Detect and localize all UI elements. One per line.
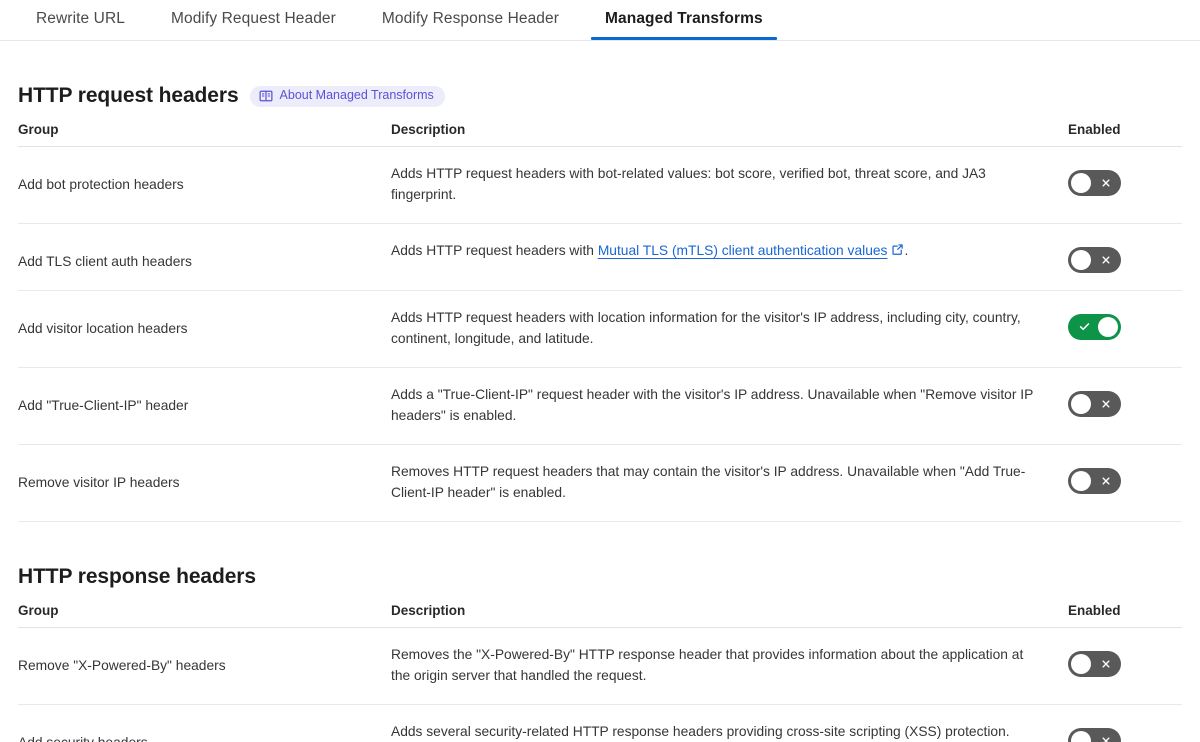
toggle-wrapper bbox=[1068, 385, 1182, 417]
cell-group: Add visitor location headers bbox=[18, 290, 391, 367]
description-text: Adds HTTP request headers with bot-relat… bbox=[391, 166, 986, 202]
column-header-description: Description bbox=[391, 122, 1068, 147]
section-header: HTTP request headersAbout Managed Transf… bbox=[18, 84, 1182, 108]
toggle-wrapper bbox=[1068, 241, 1182, 273]
cell-group: Add TLS client auth headers bbox=[18, 223, 391, 290]
cell-enabled bbox=[1068, 367, 1182, 444]
table-header: GroupDescriptionEnabled bbox=[18, 603, 1182, 628]
tab-managed-transforms[interactable]: Managed Transforms bbox=[591, 0, 777, 40]
toggle-wrapper bbox=[1068, 645, 1182, 677]
cell-enabled bbox=[1068, 444, 1182, 521]
about-managed-transforms-badge[interactable]: About Managed Transforms bbox=[250, 86, 445, 107]
description-text: Removes HTTP request headers that may co… bbox=[391, 464, 1025, 500]
toggle-knob bbox=[1071, 731, 1091, 742]
close-icon bbox=[1094, 391, 1118, 417]
close-icon bbox=[1094, 170, 1118, 196]
close-icon bbox=[1094, 728, 1118, 742]
table-row: Remove visitor IP headersRemoves HTTP re… bbox=[18, 444, 1182, 521]
table-row: Add "True-Client-IP" headerAdds a "True-… bbox=[18, 367, 1182, 444]
cell-description: Adds a "True-Client-IP" request header w… bbox=[391, 367, 1068, 444]
cell-enabled bbox=[1068, 627, 1182, 704]
column-header-description: Description bbox=[391, 603, 1068, 628]
group-name: Add visitor location headers bbox=[18, 308, 377, 340]
book-icon bbox=[259, 89, 273, 103]
table-body: Add bot protection headersAdds HTTP requ… bbox=[18, 147, 1182, 522]
table-header-row: GroupDescriptionEnabled bbox=[18, 603, 1182, 628]
description-text: Adds several security-related HTTP respo… bbox=[391, 724, 1010, 739]
column-header-group: Group bbox=[18, 603, 391, 628]
table-row: Add security headersAdds several securit… bbox=[18, 704, 1182, 742]
table-row: Remove "X-Powered-By" headersRemoves the… bbox=[18, 627, 1182, 704]
description-text: Adds HTTP request headers with location … bbox=[391, 310, 1021, 346]
cell-description: Removes HTTP request headers that may co… bbox=[391, 444, 1068, 521]
enabled-toggle[interactable] bbox=[1068, 314, 1121, 340]
toggle-knob bbox=[1071, 394, 1091, 414]
managed-transforms-table: GroupDescriptionEnabledAdd bot protectio… bbox=[18, 122, 1182, 522]
cell-group: Add bot protection headers bbox=[18, 147, 391, 224]
toggle-knob bbox=[1071, 654, 1091, 674]
tab-label: Managed Transforms bbox=[605, 10, 763, 27]
check-icon bbox=[1072, 314, 1096, 340]
section-response-headers: HTTP response headersGroupDescriptionEna… bbox=[0, 565, 1200, 742]
cell-enabled bbox=[1068, 704, 1182, 742]
enabled-toggle[interactable] bbox=[1068, 728, 1121, 742]
cell-enabled bbox=[1068, 290, 1182, 367]
table-row: Add TLS client auth headersAdds HTTP req… bbox=[18, 223, 1182, 290]
link-label: Mutual TLS (mTLS) client authentication … bbox=[598, 243, 888, 258]
group-name: Add security headers bbox=[18, 722, 377, 742]
cell-group: Remove visitor IP headers bbox=[18, 444, 391, 521]
cell-description: Adds HTTP request headers with Mutual TL… bbox=[391, 223, 1068, 290]
cell-description: Adds HTTP request headers with bot-relat… bbox=[391, 147, 1068, 224]
tab-label: Rewrite URL bbox=[36, 10, 125, 27]
enabled-toggle[interactable] bbox=[1068, 391, 1121, 417]
description-text-prefix: Adds HTTP request headers with bbox=[391, 243, 598, 258]
section-request-headers: HTTP request headersAbout Managed Transf… bbox=[0, 84, 1200, 522]
group-name: Add "True-Client-IP" header bbox=[18, 385, 377, 417]
close-icon bbox=[1094, 247, 1118, 273]
table-body: Remove "X-Powered-By" headersRemoves the… bbox=[18, 627, 1182, 742]
enabled-toggle[interactable] bbox=[1068, 651, 1121, 677]
table-header-row: GroupDescriptionEnabled bbox=[18, 122, 1182, 147]
tab-rewrite-url[interactable]: Rewrite URL bbox=[22, 0, 139, 40]
close-icon bbox=[1094, 651, 1118, 677]
cell-description: Removes the "X-Powered-By" HTTP response… bbox=[391, 627, 1068, 704]
tab-label: Modify Request Header bbox=[171, 10, 336, 27]
tab-label: Modify Response Header bbox=[382, 10, 559, 27]
toggle-wrapper bbox=[1068, 308, 1182, 340]
group-name: Add bot protection headers bbox=[18, 164, 377, 196]
external-link-icon bbox=[891, 242, 904, 263]
section-title: HTTP request headers bbox=[18, 84, 239, 108]
tab-modify-response-header[interactable]: Modify Response Header bbox=[368, 0, 573, 40]
description-text-suffix: . bbox=[904, 243, 908, 258]
cell-enabled bbox=[1068, 147, 1182, 224]
table-row: Add bot protection headersAdds HTTP requ… bbox=[18, 147, 1182, 224]
cell-group: Remove "X-Powered-By" headers bbox=[18, 627, 391, 704]
group-name: Remove "X-Powered-By" headers bbox=[18, 645, 377, 677]
column-header-enabled: Enabled bbox=[1068, 603, 1182, 628]
toggle-wrapper bbox=[1068, 462, 1182, 494]
close-icon bbox=[1094, 468, 1118, 494]
cell-enabled bbox=[1068, 223, 1182, 290]
tab-modify-request-header[interactable]: Modify Request Header bbox=[157, 0, 350, 40]
column-header-group: Group bbox=[18, 122, 391, 147]
description-text: Removes the "X-Powered-By" HTTP response… bbox=[391, 647, 1023, 683]
cell-group: Add security headers bbox=[18, 704, 391, 742]
table-header: GroupDescriptionEnabled bbox=[18, 122, 1182, 147]
tab-bar: Rewrite URLModify Request HeaderModify R… bbox=[0, 0, 1200, 41]
cell-group: Add "True-Client-IP" header bbox=[18, 367, 391, 444]
managed-transforms-table: GroupDescriptionEnabledRemove "X-Powered… bbox=[18, 603, 1182, 742]
cell-description: Adds several security-related HTTP respo… bbox=[391, 704, 1068, 742]
enabled-toggle[interactable] bbox=[1068, 247, 1121, 273]
section-header: HTTP response headers bbox=[18, 565, 1182, 589]
group-name: Add TLS client auth headers bbox=[18, 241, 377, 273]
badge-label: About Managed Transforms bbox=[280, 89, 434, 102]
toggle-knob bbox=[1071, 250, 1091, 270]
table-row: Add visitor location headersAdds HTTP re… bbox=[18, 290, 1182, 367]
toggle-wrapper bbox=[1068, 164, 1182, 196]
mtls-docs-link[interactable]: Mutual TLS (mTLS) client authentication … bbox=[598, 243, 888, 258]
section-title: HTTP response headers bbox=[18, 565, 256, 589]
cell-description: Adds HTTP request headers with location … bbox=[391, 290, 1068, 367]
enabled-toggle[interactable] bbox=[1068, 468, 1121, 494]
toggle-knob bbox=[1098, 317, 1118, 337]
description-text: Adds a "True-Client-IP" request header w… bbox=[391, 387, 1033, 423]
toggle-knob bbox=[1071, 173, 1091, 193]
toggle-knob bbox=[1071, 471, 1091, 491]
toggle-wrapper bbox=[1068, 722, 1182, 742]
group-name: Remove visitor IP headers bbox=[18, 462, 377, 494]
column-header-enabled: Enabled bbox=[1068, 122, 1182, 147]
enabled-toggle[interactable] bbox=[1068, 170, 1121, 196]
